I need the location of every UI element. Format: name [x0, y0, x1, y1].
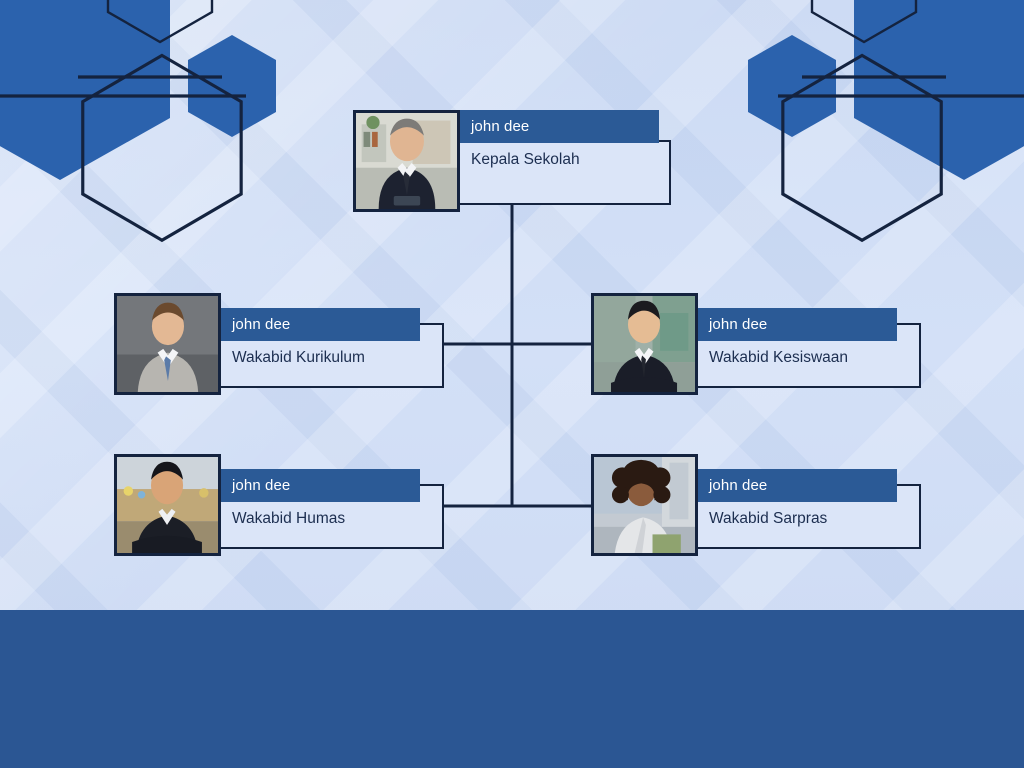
card-header: john dee [218, 308, 420, 341]
person-role: Wakabid Kesiswaan [695, 341, 921, 375]
person-role: Wakabid Humas [218, 502, 444, 536]
person-name: john dee [457, 118, 529, 135]
org-node-kepala-sekolah[interactable]: john dee Kepala Sekolah [353, 110, 673, 212]
person-name: john dee [218, 316, 290, 333]
avatar-photo [117, 457, 218, 553]
card-header: john dee [695, 308, 897, 341]
footer-band [0, 610, 1024, 768]
person-role: Kepala Sekolah [457, 143, 671, 177]
person-role: Wakabid Kurikulum [218, 341, 444, 375]
person-name: john dee [695, 477, 767, 494]
avatar [114, 293, 221, 395]
avatar [591, 293, 698, 395]
avatar-photo [594, 296, 695, 392]
org-chart-canvas: john dee Kepala Sekolah [0, 0, 1024, 768]
avatar [114, 454, 221, 556]
avatar [591, 454, 698, 556]
org-node-wakabid-kesiswaan[interactable]: john dee Wakabid Kesiswaan [591, 293, 911, 395]
org-node-wakabid-humas[interactable]: john dee Wakabid Humas [114, 454, 434, 556]
avatar-photo [594, 457, 695, 553]
card-header: john dee [457, 110, 659, 143]
card-header: john dee [695, 469, 897, 502]
org-node-wakabid-kurikulum[interactable]: john dee Wakabid Kurikulum [114, 293, 434, 395]
avatar-photo [356, 113, 457, 209]
avatar-photo [117, 296, 218, 392]
person-name: john dee [695, 316, 767, 333]
person-name: john dee [218, 477, 290, 494]
avatar [353, 110, 460, 212]
person-role: Wakabid Sarpras [695, 502, 921, 536]
card-header: john dee [218, 469, 420, 502]
org-node-wakabid-sarpras[interactable]: john dee Wakabid Sarpras [591, 454, 911, 556]
